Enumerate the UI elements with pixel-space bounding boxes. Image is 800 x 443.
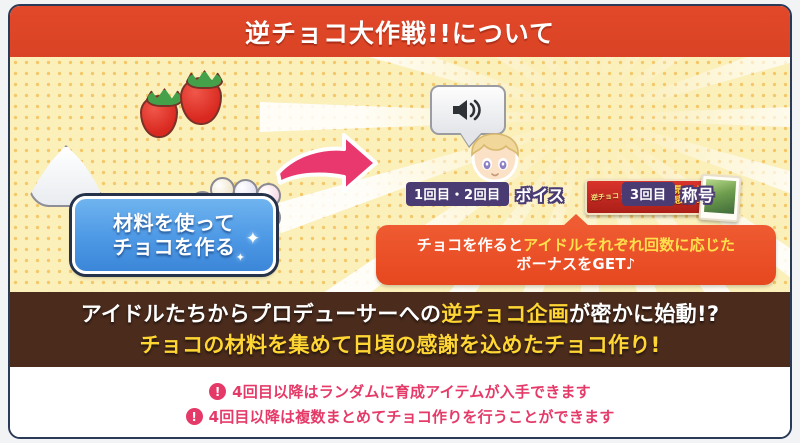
note-text: 4回目以降はランダムに育成アイテムが入手できます (232, 381, 591, 402)
voice-reward-group (430, 85, 550, 195)
badge-reward-label: 称号 (682, 182, 715, 206)
summary-banner: アイドルたちからプロデューサーへの逆チョコ企画が密かに始動!? チョコの材料を集… (10, 292, 790, 367)
make-button-line1: 材料を使って (113, 211, 235, 235)
banner-line2: チョコの材料を集めて日頃の感謝を込めたチョコ作り! (139, 330, 660, 360)
strawberry-icon-large (180, 77, 222, 125)
sparkle-icon-small: ✦ (236, 251, 245, 264)
info-panel: 逆チョコ大作戦!!について 材料を使って チョコを作る ✦ ✦ (8, 4, 792, 439)
bonus-callout: チョコを作るとアイドルそれぞれ回数に応じた ボーナスをGET♪ (376, 225, 776, 285)
strawberry-icon-small (140, 95, 178, 138)
callout-line1: チョコを作るとアイドルそれぞれ回数に応じた (417, 236, 735, 256)
sparkle-icon: ✦ (246, 229, 260, 249)
chibi-character-icon (466, 131, 524, 185)
callout-line1-a: チョコを作ると (417, 236, 523, 254)
reward-badges: 1回目・2回目 ボイス 3回目 称号 (10, 182, 790, 208)
illustration-stage: 材料を使って チョコを作る ✦ ✦ (10, 57, 790, 292)
reward-badge-voice: 1回目・2回目 ボイス (406, 182, 565, 206)
exclamation-icon: ! (186, 408, 203, 425)
panel-header: 逆チョコ大作戦!!について (10, 6, 790, 57)
callout-line2: ボーナスをGET♪ (516, 255, 635, 275)
page-title: 逆チョコ大作戦!!について (245, 14, 555, 50)
note-text: 4回目以降は複数まとめてチョコ作りを行うことができます (209, 406, 615, 427)
speaker-icon (450, 97, 486, 123)
badge-count: 1回目・2回目 (406, 182, 509, 206)
badge-count: 3回目 (622, 182, 675, 206)
exclamation-icon: ! (209, 383, 226, 400)
badge-reward-label: ボイス (516, 182, 565, 206)
note-item: ! 4回目以降は複数まとめてチョコ作りを行うことができます (186, 406, 615, 427)
banner-line1: アイドルたちからプロデューサーへの逆チョコ企画が密かに始動!? (81, 299, 720, 329)
footer-notes: ! 4回目以降はランダムに育成アイテムが入手できます ! 4回目以降は複数まとめ… (10, 367, 790, 439)
banner-line1-highlight: 逆チョコ企画 (441, 302, 569, 326)
callout-line1-b: アイドルそれぞれ回数に応じた (523, 236, 735, 254)
banner-line1-a: アイドルたちからプロデューサーへの (81, 302, 442, 326)
banner-line1-b: が密かに始動!? (569, 302, 719, 326)
reward-badge-title: 3回目 称号 (622, 182, 715, 206)
make-button-line2: チョコを作る (113, 235, 236, 259)
speech-bubble (430, 85, 506, 135)
note-item: ! 4回目以降はランダムに育成アイテムが入手できます (209, 381, 591, 402)
